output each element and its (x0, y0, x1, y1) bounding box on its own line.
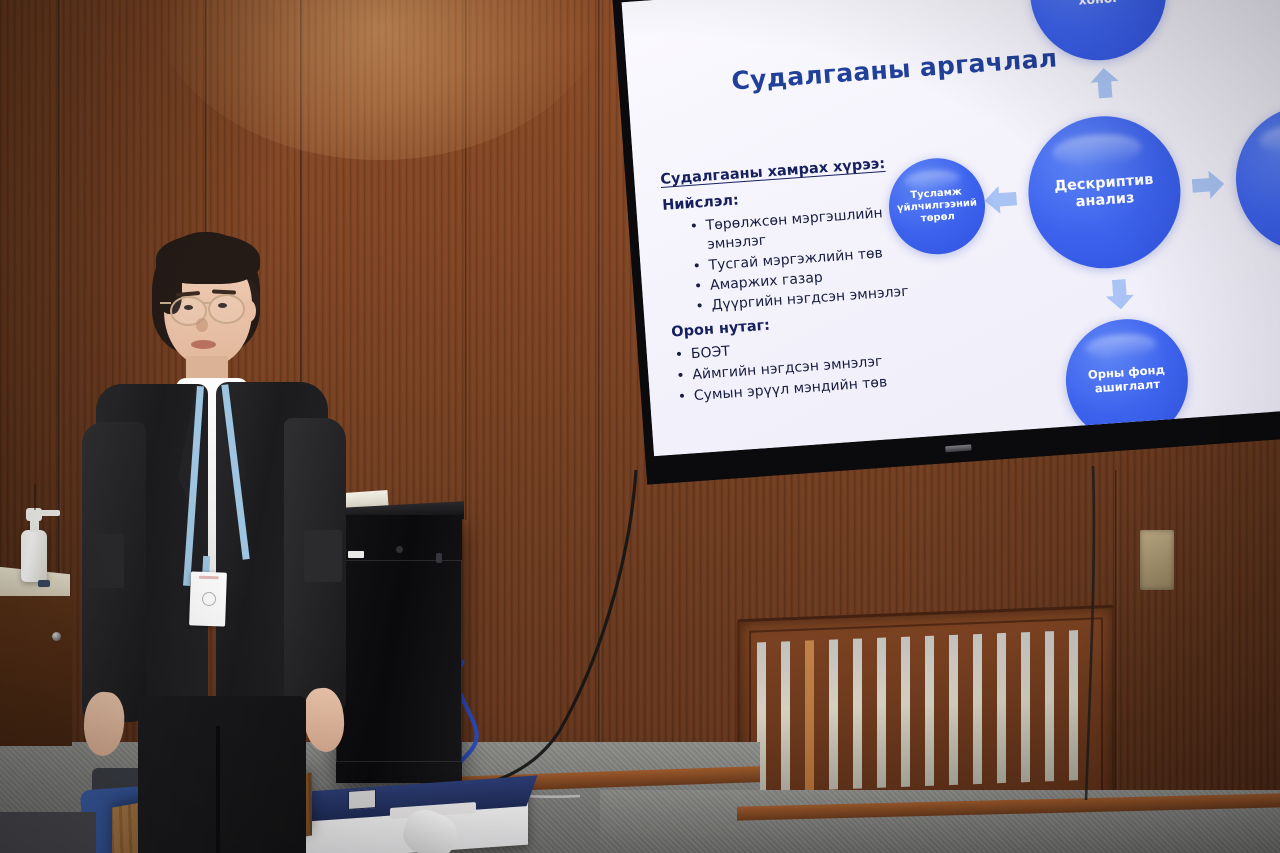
black-display-cable (478, 470, 636, 786)
sleeve-flap-left (84, 534, 124, 588)
trousers (138, 696, 306, 853)
presenter (60, 226, 370, 853)
eyeglasses-bridge (202, 302, 210, 304)
mouth (191, 340, 216, 349)
sleeve-flap-right (304, 530, 342, 582)
conference-room-scene: Судалгааны аргачлал Судалгааны хамрах хү… (0, 0, 1280, 853)
cabinet-latch[interactable] (436, 553, 442, 563)
sanitizer-base-clip (38, 580, 50, 587)
trouser-seam (216, 726, 220, 853)
sanitizer-spout (40, 510, 60, 516)
nose (196, 318, 208, 332)
cabinet-vent-hole (396, 546, 403, 553)
hand-sanitizer-bottle (21, 530, 47, 582)
badge-stripe (199, 576, 219, 580)
hand-left (82, 691, 126, 758)
eyeglasses-lens-right (208, 294, 245, 324)
badge-person-icon (202, 592, 216, 606)
black-wall-cable (1086, 466, 1094, 800)
eyeglasses-temple (160, 302, 171, 304)
sanitizer-stand-rod (34, 484, 36, 510)
id-badge (189, 571, 227, 626)
